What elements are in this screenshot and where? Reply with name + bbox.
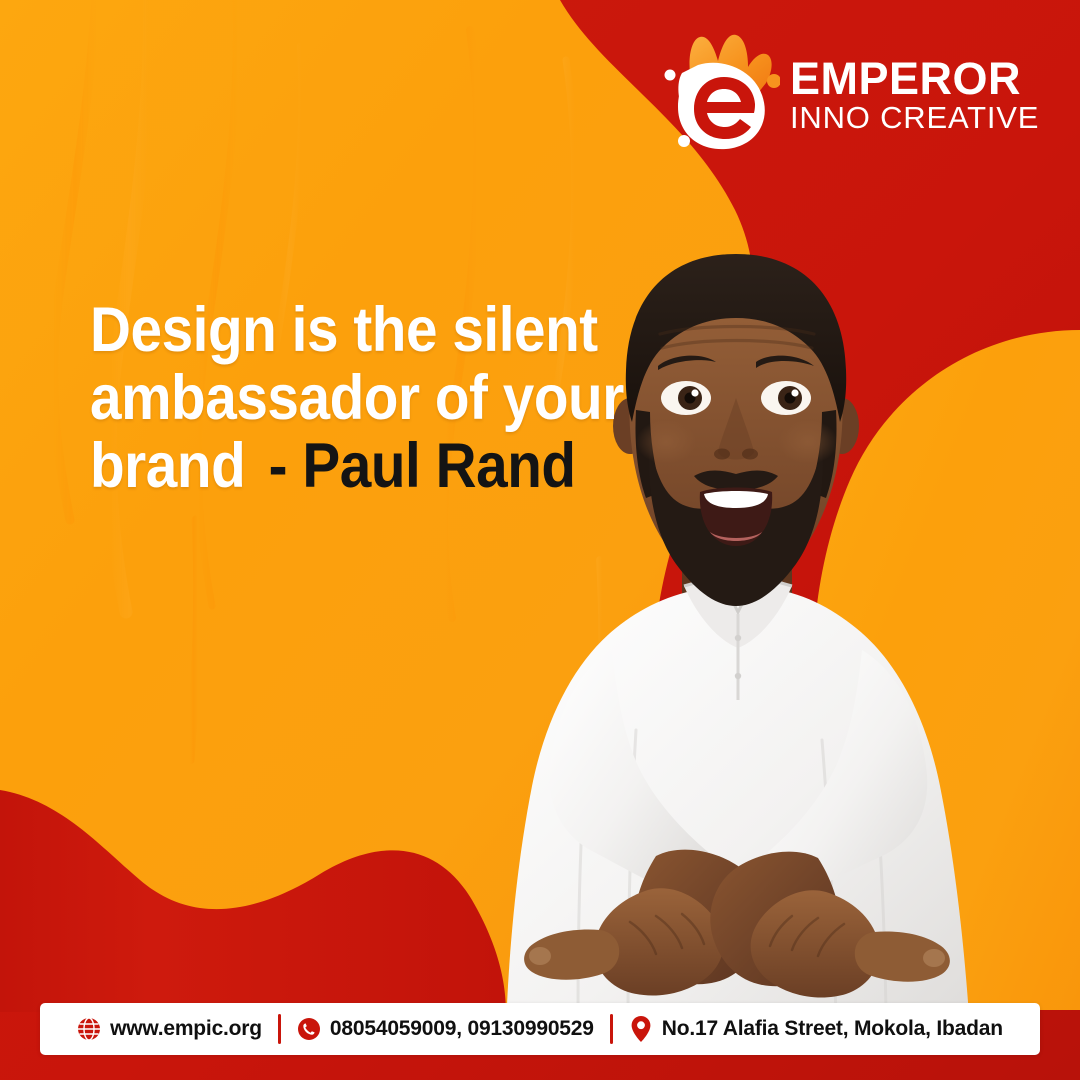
logo-title: EMPEROR — [790, 57, 1039, 101]
quote-block: Design is the silent ambassador of your … — [90, 296, 690, 500]
quote-line-3: brand- Paul Rand — [90, 432, 630, 500]
quote-line-2: ambassador of your — [90, 364, 630, 432]
footer-item-address[interactable]: No.17 Alafia Street, Mokola, Ibadan — [613, 1015, 1019, 1043]
location-pin-icon — [629, 1015, 653, 1043]
emperor-e-mark-icon — [662, 29, 780, 155]
logo-wordmark: EMPEROR INNO CREATIVE — [790, 49, 1039, 136]
phone-icon — [297, 1017, 321, 1041]
poster-canvas: Design is the silent ambassador of your … — [0, 0, 1080, 1080]
brand-logo[interactable]: EMPEROR INNO CREATIVE — [662, 26, 1042, 158]
footer-address-text: No.17 Alafia Street, Mokola, Ibadan — [662, 1017, 1003, 1041]
footer-website-text: www.empic.org — [110, 1017, 262, 1041]
footer-item-phone[interactable]: 08054059009, 09130990529 — [281, 1017, 610, 1041]
logo-subtitle: INNO CREATIVE — [790, 101, 1039, 136]
contact-footer-bar: www.empic.org 08054059009, 09130990529 N… — [40, 1003, 1040, 1055]
quote-last-word: brand — [90, 431, 245, 501]
quote-author: - Paul Rand — [269, 431, 576, 501]
globe-icon — [77, 1017, 101, 1041]
footer-phone-text: 08054059009, 09130990529 — [330, 1017, 594, 1041]
footer-item-website[interactable]: www.empic.org — [61, 1017, 278, 1041]
quote-line-1: Design is the silent — [90, 296, 630, 364]
